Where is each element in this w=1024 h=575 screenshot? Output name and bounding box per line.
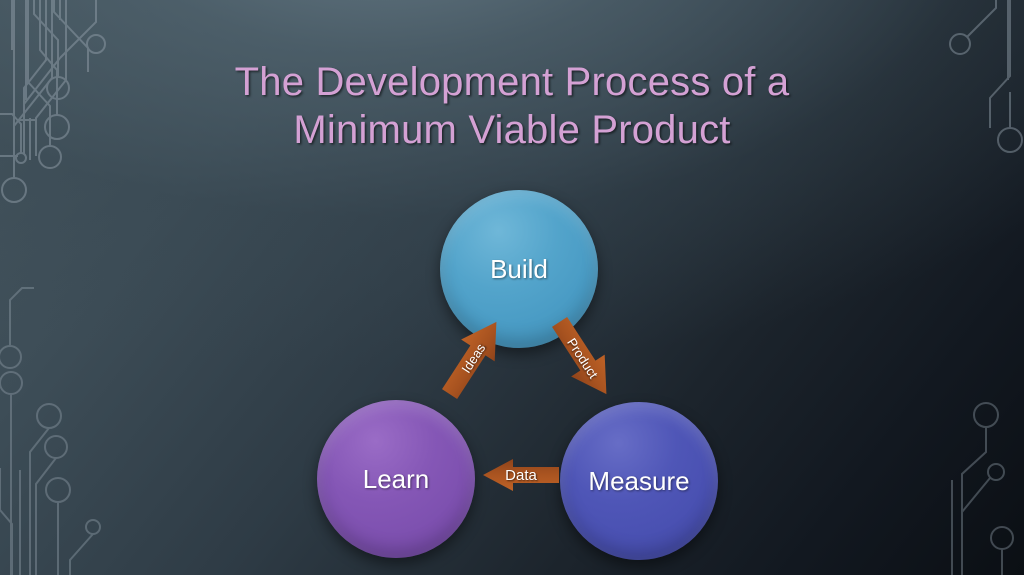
diagram-arrow-ideas: Ideas	[433, 311, 513, 405]
diagram-node-build-label: Build	[490, 254, 548, 285]
diagram-node-learn-label: Learn	[363, 464, 430, 495]
mvp-cycle-diagram: Build Learn Measure Ideas	[0, 0, 1024, 575]
diagram-arrow-product: Product	[543, 311, 623, 405]
diagram-node-measure-label: Measure	[588, 466, 689, 497]
diagram-node-measure[interactable]: Measure	[560, 402, 718, 560]
diagram-node-learn[interactable]: Learn	[317, 400, 475, 558]
slide-canvas: The Development Process of a Minimum Via…	[0, 0, 1024, 575]
diagram-arrow-data: Data	[483, 459, 559, 491]
